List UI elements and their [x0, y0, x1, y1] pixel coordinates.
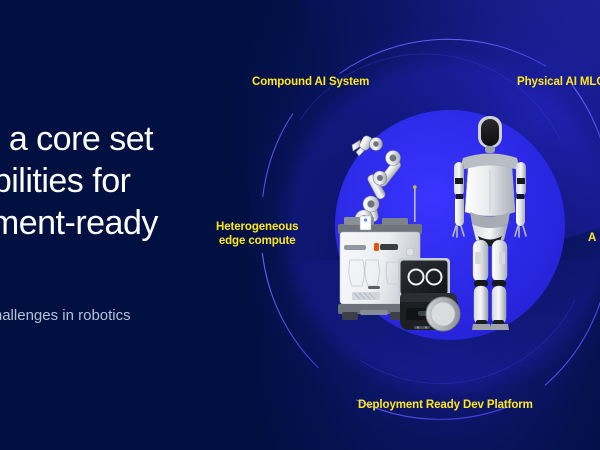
copy-block: ing a core set pabilities for oyment-rea…: [0, 118, 216, 326]
humanoid-robot: [453, 116, 526, 330]
screen-face-home-robot: [398, 258, 460, 331]
label-physical-ai-mlops: Physical AI MLOp: [517, 75, 600, 89]
page-subtitle: ay's challenges in robotics: [0, 306, 216, 326]
label-heterogeneous-edge-compute: Heterogeneous edge compute: [216, 220, 298, 248]
slide-canvas: ing a core set pabilities for oyment-rea…: [0, 0, 600, 450]
page-title: ing a core set pabilities for oyment-rea…: [0, 118, 216, 286]
label-right-clipped: A: [588, 231, 596, 245]
label-deployment-ready-dev-platform: Deployment Ready Dev Platform: [358, 398, 533, 412]
robot-lineup: [330, 112, 560, 332]
label-compound-ai-system: Compound AI System: [252, 75, 369, 89]
